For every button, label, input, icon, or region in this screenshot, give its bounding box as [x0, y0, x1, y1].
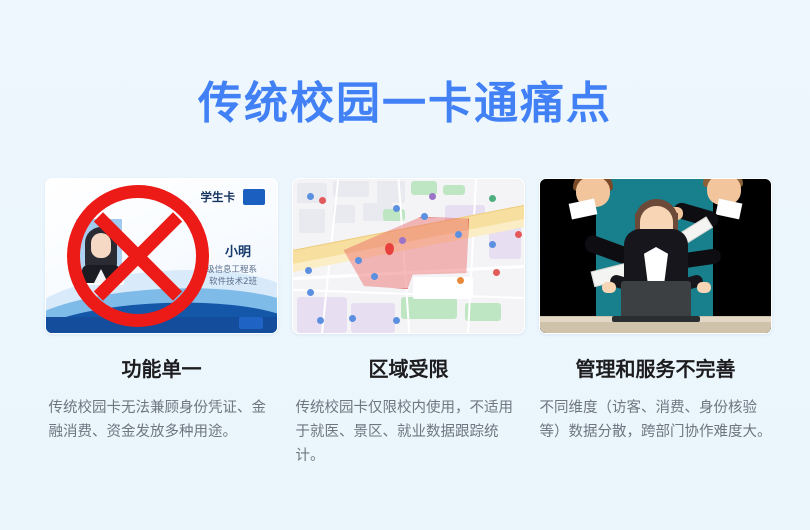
laptop-screen	[621, 281, 691, 319]
map-block	[299, 209, 325, 233]
pain-point-card-3: 管理和服务不完善 不同维度（访客、消费、身份核验等）数据分散，跨部门协作难度大。	[539, 178, 772, 468]
map-park	[401, 297, 457, 319]
card-2-body: 传统校园卡仅限校内使用，不适用于就医、景区、就业数据跟踪统计。	[296, 396, 522, 468]
map-poi	[319, 197, 326, 204]
map-poi	[393, 317, 400, 324]
map-park	[443, 185, 465, 195]
map-poi	[371, 273, 378, 280]
card-1-image: 学生卡 小明 23级信息工程系 软件技术2班	[45, 178, 278, 334]
map-poi	[455, 231, 462, 238]
map-poi	[429, 193, 436, 200]
center-person-left-hand	[602, 282, 616, 293]
map-poi	[399, 237, 406, 244]
red-cross-icon	[67, 185, 209, 327]
map-poi	[489, 195, 496, 202]
student-id-card-illustration: 学生卡 小明 23级信息工程系 软件技术2班	[46, 179, 277, 333]
id-card-corner-block-lower	[239, 317, 263, 329]
map-poi	[515, 231, 522, 238]
map-poi	[317, 317, 324, 324]
card-1-body: 传统校园卡无法兼顾身份凭证、金融消费、资金发放多种用途。	[49, 396, 275, 444]
map-poi	[307, 289, 314, 296]
slide-root: 传统校园一卡通痛点 学生卡	[0, 0, 810, 530]
map-poi	[305, 267, 312, 274]
map-poi	[493, 269, 500, 276]
map-poi	[489, 241, 496, 248]
map-poi	[457, 277, 464, 284]
card-3-image	[539, 178, 772, 334]
office-stress-illustration	[540, 179, 771, 333]
pain-point-card-2: 区域受限 传统校园卡仅限校内使用，不适用于就医、景区、就业数据跟踪统计。	[292, 178, 525, 468]
map-poi	[307, 193, 314, 200]
center-person-right-hand	[697, 282, 711, 293]
pain-point-card-1: 学生卡 小明 23级信息工程系 软件技术2班	[45, 178, 278, 468]
student-name: 小明	[225, 241, 251, 260]
map-block	[333, 205, 355, 223]
id-card-corner-block	[243, 189, 265, 205]
card-3-body: 不同维度（访客、消费、身份核验等）数据分散，跨部门协作难度大。	[540, 396, 772, 444]
card-2-heading: 区域受限	[369, 356, 449, 382]
page-title: 传统校园一卡通痛点	[0, 78, 810, 130]
map-poi	[355, 257, 362, 264]
student-dept-line-2: 软件技术2班	[209, 275, 257, 287]
card-1-heading: 功能单一	[122, 356, 202, 382]
campus-map-illustration	[293, 179, 524, 333]
pain-point-card-grid: 学生卡 小明 23级信息工程系 软件技术2班	[45, 178, 765, 468]
card-3-heading: 管理和服务不完善	[576, 356, 736, 382]
map-poi	[421, 213, 428, 220]
map-poi	[349, 315, 356, 322]
map-zone	[351, 303, 395, 333]
map-poi	[393, 205, 400, 212]
card-2-image	[292, 178, 525, 334]
laptop-base	[612, 316, 700, 322]
